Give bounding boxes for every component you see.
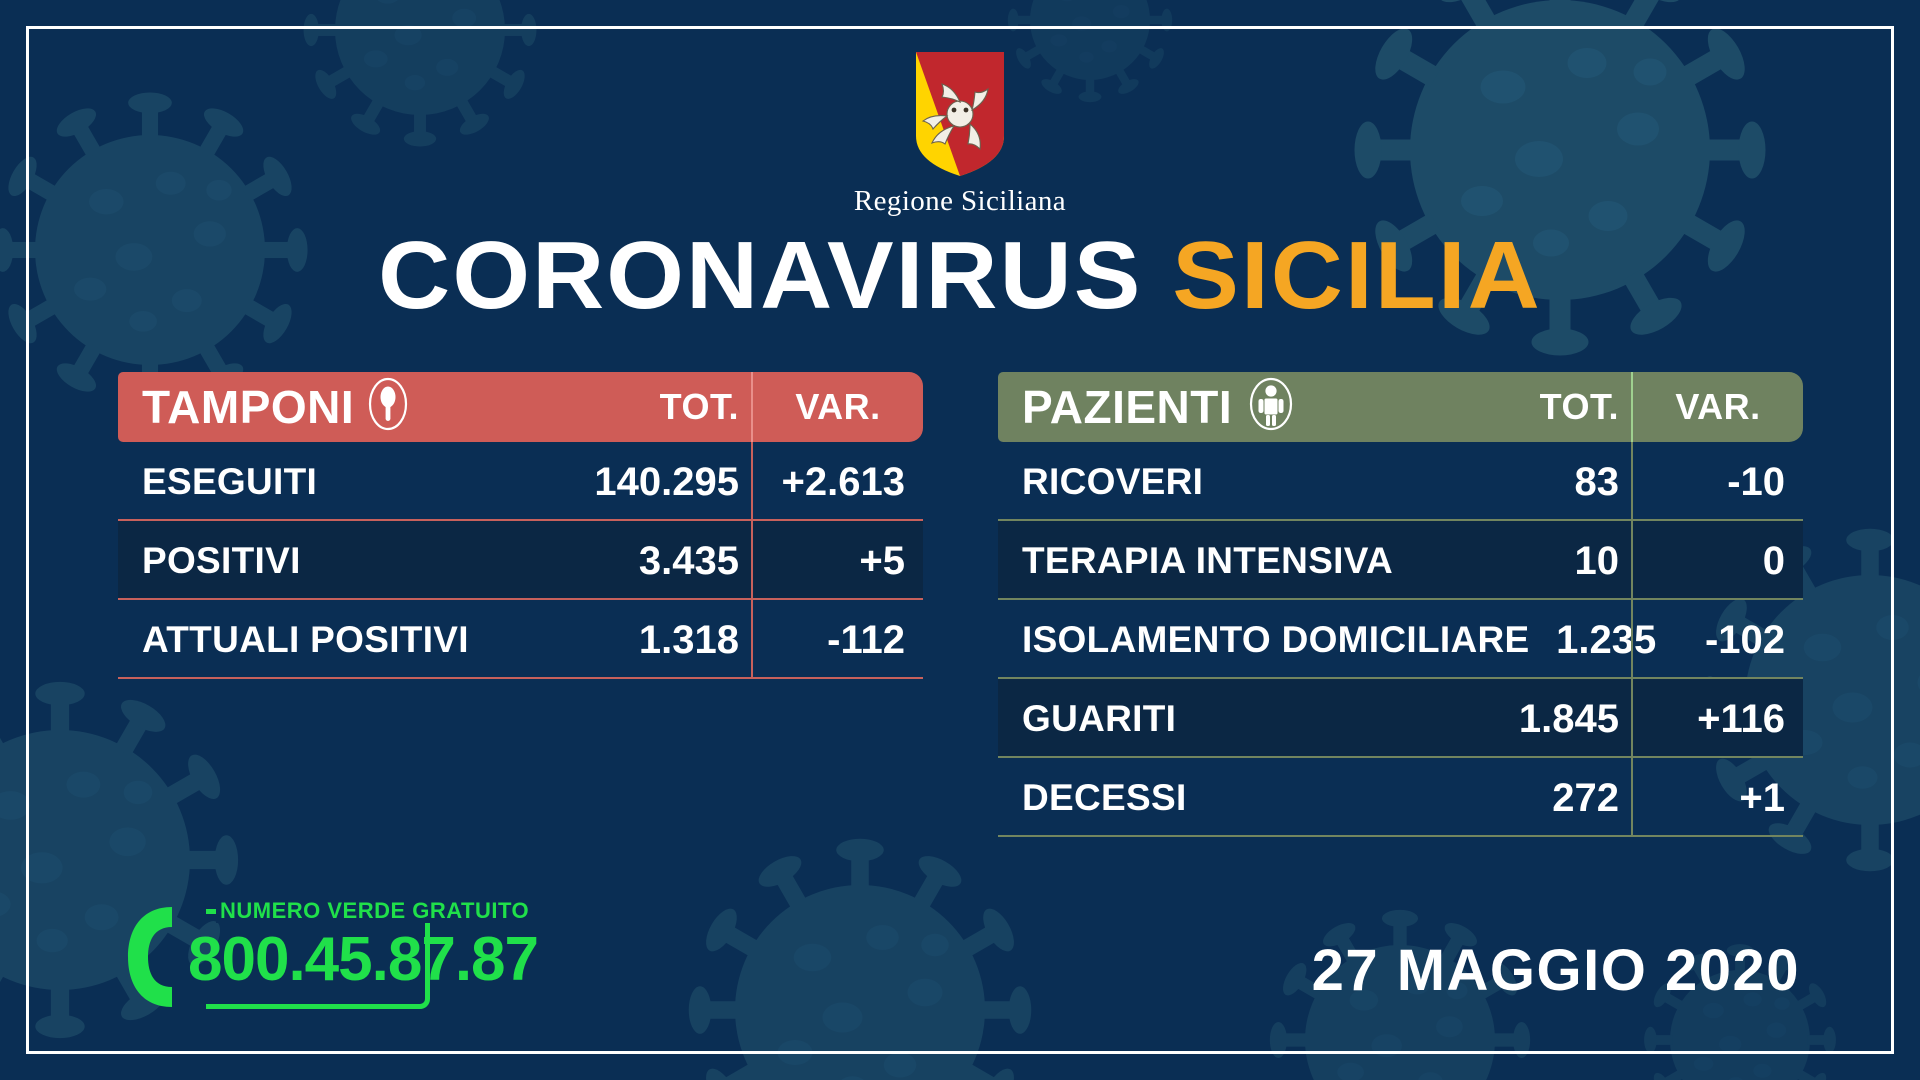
table-pazienti-name: PAZIENTI (1022, 384, 1232, 430)
swab-icon (367, 376, 409, 439)
row-total: 1.235 (1529, 620, 1670, 660)
region-logo-block: Regione Siciliana (0, 50, 1920, 218)
table-pazienti-col-tot: TOT. (1451, 389, 1633, 425)
row-variation: +5 (753, 541, 923, 581)
row-label: POSITIVI (118, 542, 571, 579)
table-row: GUARITI 1.845 +116 (998, 679, 1803, 758)
table-pazienti: PAZIENTI TOT. VAR. (998, 372, 1803, 837)
row-label: ATTUALI POSITIVI (118, 621, 571, 658)
row-label: ESEGUITI (118, 463, 571, 500)
report-date: 27 MAGGIO 2020 (1312, 940, 1800, 1002)
title-accent: SICILIA (1172, 222, 1542, 329)
poster-content: Regione Siciliana CORONAVIRUS SICILIA TA… (0, 0, 1920, 1080)
table-tamponi-header: TAMPONI TOT. VAR. (118, 372, 923, 442)
table-row: ESEGUITI 140.295 +2.613 (118, 442, 923, 521)
row-variation: -10 (1633, 462, 1803, 502)
row-variation: -102 (1670, 620, 1803, 660)
row-total: 140.295 (571, 462, 753, 502)
row-total: 272 (1451, 778, 1633, 818)
row-label: TERAPIA INTENSIVA (998, 542, 1451, 579)
table-row: DECESSI 272 +1 (998, 758, 1803, 837)
hotline-number[interactable]: 800.45.87.87 (188, 925, 538, 995)
row-label: RICOVERI (998, 463, 1451, 500)
row-label: DECESSI (998, 779, 1451, 816)
table-tamponi-column-divider (751, 442, 753, 679)
row-variation: +2.613 (753, 462, 923, 502)
table-pazienti-column-divider (1631, 442, 1633, 837)
person-icon (1245, 376, 1297, 439)
row-separator (998, 835, 1803, 837)
row-label: ISOLAMENTO DOMICILIARE (998, 621, 1529, 658)
row-total: 3.435 (571, 541, 753, 581)
row-total: 83 (1451, 462, 1633, 502)
table-pazienti-body: RICOVERI 83 -10 TERAPIA INTENSIVA 10 0 I… (998, 442, 1803, 837)
table-row: TERAPIA INTENSIVA 10 0 (998, 521, 1803, 600)
hotline-label: NUMERO VERDE GRATUITO (216, 899, 539, 923)
hotline-box[interactable]: NUMERO VERDE GRATUITO 800.45.87.87 (120, 895, 430, 1020)
table-pazienti-header-title: PAZIENTI (998, 376, 1451, 439)
table-tamponi-header-title: TAMPONI (118, 376, 571, 439)
table-row: RICOVERI 83 -10 (998, 442, 1803, 521)
table-pazienti-header-divider (1631, 372, 1633, 442)
table-tamponi-name: TAMPONI (142, 384, 354, 430)
table-row: ATTUALI POSITIVI 1.318 -112 (118, 600, 923, 679)
organization-name: Regione Siciliana (854, 185, 1066, 218)
row-separator (118, 677, 923, 679)
title-primary: CORONAVIRUS (378, 222, 1142, 329)
table-tamponi-col-var: VAR. (753, 389, 923, 425)
row-total: 10 (1451, 541, 1633, 581)
row-label: GUARITI (998, 700, 1451, 737)
trinacria-crest-icon (914, 50, 1006, 178)
table-pazienti-header: PAZIENTI TOT. VAR. (998, 372, 1803, 442)
table-pazienti-col-var: VAR. (1633, 389, 1803, 425)
page-title: CORONAVIRUS SICILIA (0, 228, 1920, 324)
poster-root: Regione Siciliana CORONAVIRUS SICILIA TA… (0, 0, 1920, 1080)
row-variation: +116 (1633, 699, 1803, 739)
table-tamponi: TAMPONI TOT. VAR. ESEGUITI 14 (118, 372, 923, 679)
table-tamponi-body: ESEGUITI 140.295 +2.613 POSITIVI 3.435 +… (118, 442, 923, 679)
row-variation: 0 (1633, 541, 1803, 581)
row-total: 1.845 (1451, 699, 1633, 739)
row-total: 1.318 (571, 620, 753, 660)
row-variation: +1 (1633, 778, 1803, 818)
table-tamponi-col-tot: TOT. (571, 389, 753, 425)
row-variation: -112 (753, 620, 923, 660)
table-row: ISOLAMENTO DOMICILIARE 1.235 -102 (998, 600, 1803, 679)
table-tamponi-header-divider (751, 372, 753, 442)
table-row: POSITIVI 3.435 +5 (118, 521, 923, 600)
phone-handset-icon (120, 903, 186, 1011)
